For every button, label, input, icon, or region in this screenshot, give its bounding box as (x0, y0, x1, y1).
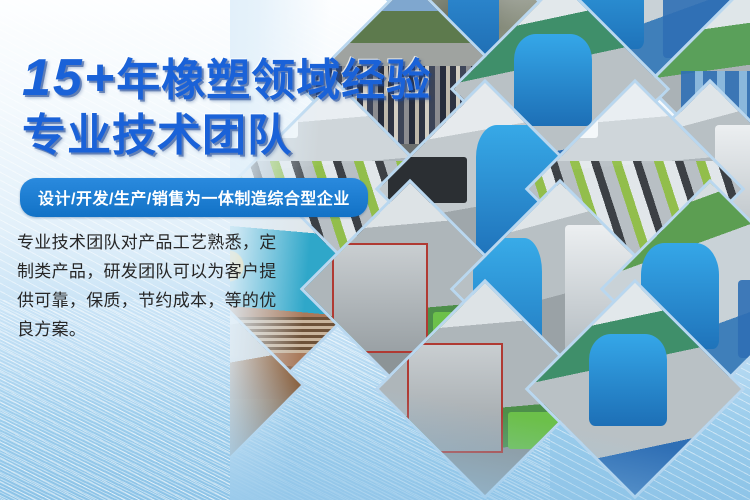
body-paragraph: 专业技术团队对产品工艺熟悉，定制类产品，研发团队可以为客户提供可靠，保质，节约成… (17, 228, 285, 344)
headline-line-2: 专业技术团队 (22, 110, 292, 162)
headline-line-1-suffix: 年橡塑领域经验 (116, 56, 431, 105)
subtitle-pill: 设计/开发/生产/销售为一体制造综合型企业 (20, 178, 368, 217)
promo-banner: 15+年橡塑领域经验 专业技术团队 设计/开发/生产/销售为一体制造综合型企业 … (0, 0, 750, 500)
headline-line-1: 15+年橡塑领域经验 (22, 52, 431, 107)
headline-text-block: 15+年橡塑领域经验 专业技术团队 设计/开发/生产/销售为一体制造综合型企业 … (0, 0, 470, 500)
years-number: 15+ (22, 49, 116, 107)
